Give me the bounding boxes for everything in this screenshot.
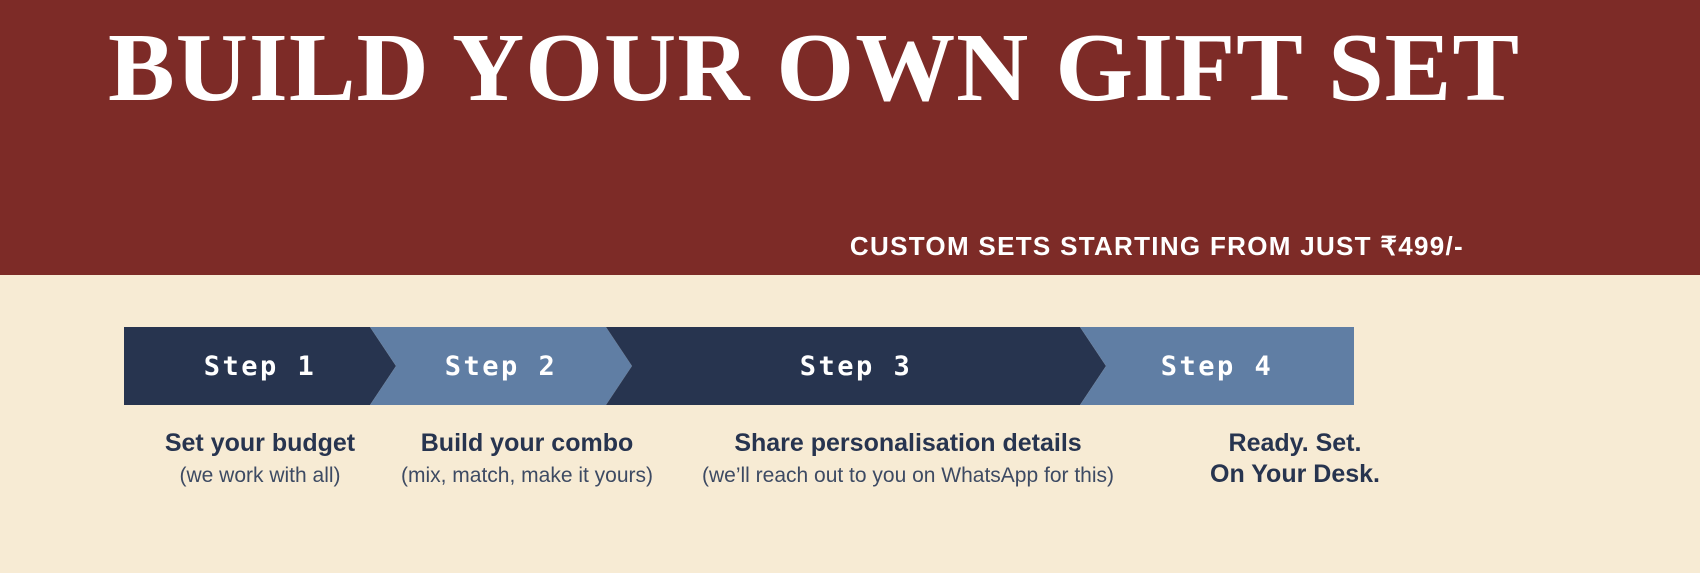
step-chevron-1[interactable]: Step 1 [124, 327, 396, 405]
step-caption-title-3: Share personalisation details [734, 428, 1081, 459]
step-chevron-3[interactable]: Step 3 [606, 327, 1106, 405]
step-caption-sub-2: (mix, match, make it yours) [401, 462, 653, 490]
step-label-3: Step 3 [800, 351, 913, 382]
step-caption-title-4-line2: On Your Desk. [1210, 459, 1380, 490]
step-label-1: Step 1 [204, 351, 317, 382]
hero-subtitle: CUSTOM SETS STARTING FROM JUST ₹499/- [850, 231, 1464, 261]
steps-progress-bar: Step 1 Step 2 Step 3 Step 4 [124, 327, 1432, 405]
step-label-2: Step 2 [445, 351, 558, 382]
hero-banner: BUILD YOUR OWN GIFT SET CUSTOM SETS STAR… [0, 0, 1700, 275]
step-caption-sub-3: (we’ll reach out to you on WhatsApp for … [702, 462, 1114, 490]
step-caption-title-2: Build your combo [421, 428, 634, 459]
step-caption-title-4-line1: Ready. Set. [1229, 428, 1362, 459]
step-label-4: Step 4 [1161, 351, 1274, 382]
step-caption-1: Set your budget (we work with all) [124, 428, 396, 538]
step-caption-sub-1: (we work with all) [179, 462, 340, 490]
step-caption-title-1: Set your budget [165, 428, 355, 459]
gift-set-banner: BUILD YOUR OWN GIFT SET CUSTOM SETS STAR… [0, 0, 1700, 573]
steps-captions: Set your budget (we work with all) Build… [124, 428, 1432, 538]
step-caption-4: Ready. Set. On Your Desk. [1158, 428, 1432, 538]
step-caption-2: Build your combo (mix, match, make it yo… [396, 428, 658, 538]
page-title: BUILD YOUR OWN GIFT SET [108, 12, 1520, 124]
step-caption-3: Share personalisation details (we’ll rea… [658, 428, 1158, 538]
step-chevron-4[interactable]: Step 4 [1080, 327, 1354, 405]
step-chevron-2[interactable]: Step 2 [370, 327, 632, 405]
